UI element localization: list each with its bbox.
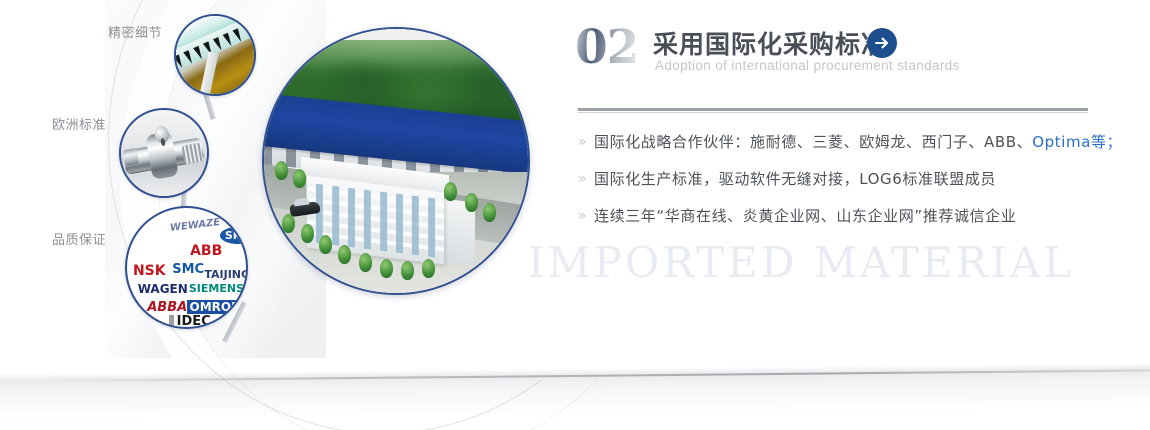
brand-logo: WEWAZE bbox=[169, 218, 220, 234]
bullet-item: »国际化战略合作伙伴：施耐德、三菱、欧姆龙、西门子、ABB、Optima等； bbox=[578, 132, 1098, 152]
brand-logo: IDEC bbox=[169, 315, 211, 328]
label-european-standard: 欧洲标准 bbox=[52, 114, 106, 133]
promo-banner: WEWAZESKOABBNSKSMCTAIJINGWAGENSIEMENSABB… bbox=[0, 0, 1150, 430]
brand-logo: OMRON bbox=[187, 300, 245, 314]
screw-tip bbox=[122, 148, 138, 166]
ball-screw-image bbox=[121, 110, 207, 196]
brand-logo: TAIJING bbox=[204, 269, 248, 280]
gear-macro-image bbox=[176, 16, 254, 94]
factory-image bbox=[264, 29, 528, 293]
section-header: 02 采用国际化采购标准 Adoption of international p… bbox=[575, 22, 1095, 84]
brand-logo-collage: WEWAZESKOABBNSKSMCTAIJINGWAGENSIEMENSABB… bbox=[127, 208, 246, 327]
bullet-marker-icon: » bbox=[578, 206, 594, 226]
bullet-text: 国际化生产标准，驱动软件无缝对接，LOG6标准联盟成员 bbox=[594, 169, 996, 189]
bullet-text-plain: 国际化战略合作伙伴：施耐德、三菱、欧姆龙、西门子、ABB、 bbox=[594, 133, 1032, 151]
tree-row bbox=[264, 29, 528, 293]
bullet-list: »国际化战略合作伙伴：施耐德、三菱、欧姆龙、西门子、ABB、Optima等；»国… bbox=[578, 132, 1098, 243]
screw-threads bbox=[181, 143, 203, 165]
brand-logo: ABBA bbox=[147, 301, 187, 314]
brand-logo: ABB bbox=[190, 244, 222, 258]
ball-screw-photo bbox=[119, 108, 209, 198]
brand-logo: WAGEN bbox=[138, 283, 188, 295]
label-quality-assurance: 品质保证 bbox=[52, 229, 106, 248]
brand-logo: NSK bbox=[133, 264, 166, 278]
bullet-item: »连续三年“华商在线、炎黄企业网、山东企业网”推荐诚信企业 bbox=[578, 206, 1098, 226]
section-number: 02 bbox=[575, 24, 638, 71]
bottom-reflection-edge bbox=[48, 369, 1150, 382]
brand-logo: SMC bbox=[172, 263, 204, 276]
page-subtitle: Adoption of international procurement st… bbox=[655, 58, 960, 73]
bullet-marker-icon: » bbox=[578, 132, 594, 152]
bullet-text: 连续三年“华商在线、炎黄企业网、山东企业网”推荐诚信企业 bbox=[594, 206, 1016, 226]
arrow-right-icon[interactable] bbox=[867, 28, 897, 58]
bullet-text-highlight: Optima等； bbox=[1032, 133, 1122, 151]
bullet-text-plain: 连续三年“华商在线、炎黄企业网、山东企业网”推荐诚信企业 bbox=[594, 207, 1016, 225]
bullet-text-plain: 国际化生产标准，驱动软件无缝对接，LOG6标准联盟成员 bbox=[594, 170, 996, 188]
gear-macro-photo bbox=[174, 14, 256, 96]
watermark-text: IMPORTED MATERIAL bbox=[528, 238, 1074, 287]
header-divider bbox=[578, 108, 1088, 113]
brand-logos-photo: WEWAZESKOABBNSKSMCTAIJINGWAGENSIEMENSABB… bbox=[125, 206, 248, 329]
bullet-item: »国际化生产标准，驱动软件无缝对接，LOG6标准联盟成员 bbox=[578, 169, 1098, 189]
factory-aerial-photo bbox=[262, 27, 530, 295]
brand-logo: SKO bbox=[220, 227, 248, 244]
label-precision-detail: 精密细节 bbox=[108, 22, 162, 41]
page-title: 采用国际化采购标准 bbox=[653, 25, 887, 61]
right-content: 02 采用国际化采购标准 Adoption of international p… bbox=[575, 22, 1095, 84]
brand-logo: SIEMENS bbox=[189, 283, 244, 294]
bullet-marker-icon: » bbox=[578, 169, 594, 189]
bullet-text: 国际化战略合作伙伴：施耐德、三菱、欧姆龙、西门子、ABB、Optima等； bbox=[594, 132, 1122, 152]
